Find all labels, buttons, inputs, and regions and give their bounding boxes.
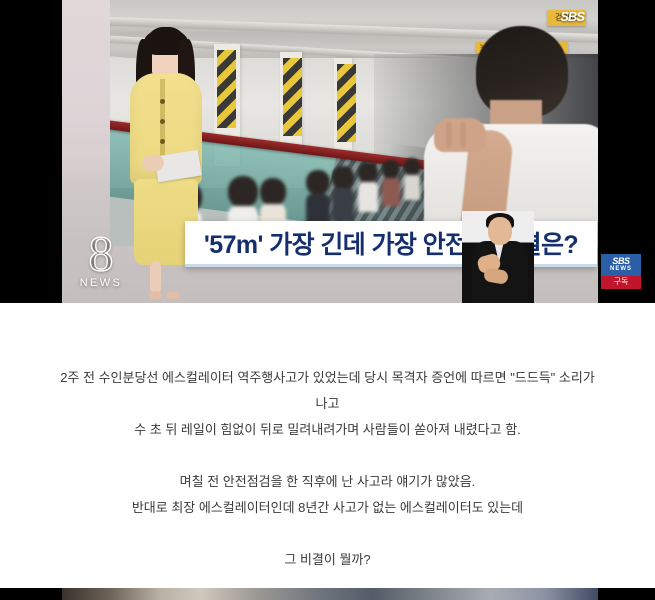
escalator-rider	[332, 166, 354, 222]
next-image[interactable]	[0, 588, 655, 600]
post-page: 걷거나 SBS 노약자 안전 손잡이 잡고 타세요 안전하게 이용하세요 에스컬…	[0, 0, 655, 600]
news-image[interactable]: 걷거나 SBS 노약자 안전 손잡이 잡고 타세요 안전하게 이용하세요 에스컬…	[0, 0, 655, 303]
post-line-spacer	[8, 521, 647, 547]
post-line: 며칠 전 안전점검을 한 직후에 난 사고라 얘기가 많았음.	[8, 469, 647, 495]
subscribe-brand: SBS NEWS	[601, 254, 641, 276]
sbs-watermark: SBS	[560, 9, 584, 24]
subscribe-badge[interactable]: SBS NEWS 구독	[601, 254, 641, 289]
escalator-rider	[382, 160, 400, 206]
subscribe-action: 구독	[601, 276, 641, 289]
post-line: 나고	[8, 391, 647, 417]
post-line: 그 비결이 뭘까?	[8, 547, 647, 573]
news-image-content: 걷거나 SBS 노약자 안전 손잡이 잡고 타세요 안전하게 이용하세요 에스컬…	[62, 0, 598, 303]
post-line: 2주 전 수인분당선 에스컬레이터 역주행사고가 있었는데 당시 목격자 증언에…	[8, 365, 647, 391]
anchor-legs	[150, 261, 180, 297]
subscribe-brand-sub: NEWS	[601, 266, 641, 272]
subscribe-brand-name: SBS	[612, 256, 629, 266]
anchor-hand	[142, 155, 164, 171]
sign-language-interpreter	[462, 211, 534, 303]
post-line: 반대로 최장 에스컬레이터인데 8년간 사고가 없는 에스컬레이터도 있는데	[8, 495, 647, 521]
post-line-spacer	[8, 443, 647, 469]
post-body: 2주 전 수인분당선 에스컬레이터 역주행사고가 있었는데 당시 목격자 증언에…	[0, 303, 655, 588]
passenger-hand	[434, 118, 486, 152]
headline-bar: '57m' 가장 긴데 가장 안전한 비결은?	[185, 221, 597, 267]
next-image-content	[62, 588, 598, 600]
post-line: 수 초 뒤 레일이 힘없이 뒤로 밀려내려가며 사람들이 쏟아져 내렸다고 함.	[8, 417, 647, 443]
escalator-rider	[358, 162, 378, 212]
